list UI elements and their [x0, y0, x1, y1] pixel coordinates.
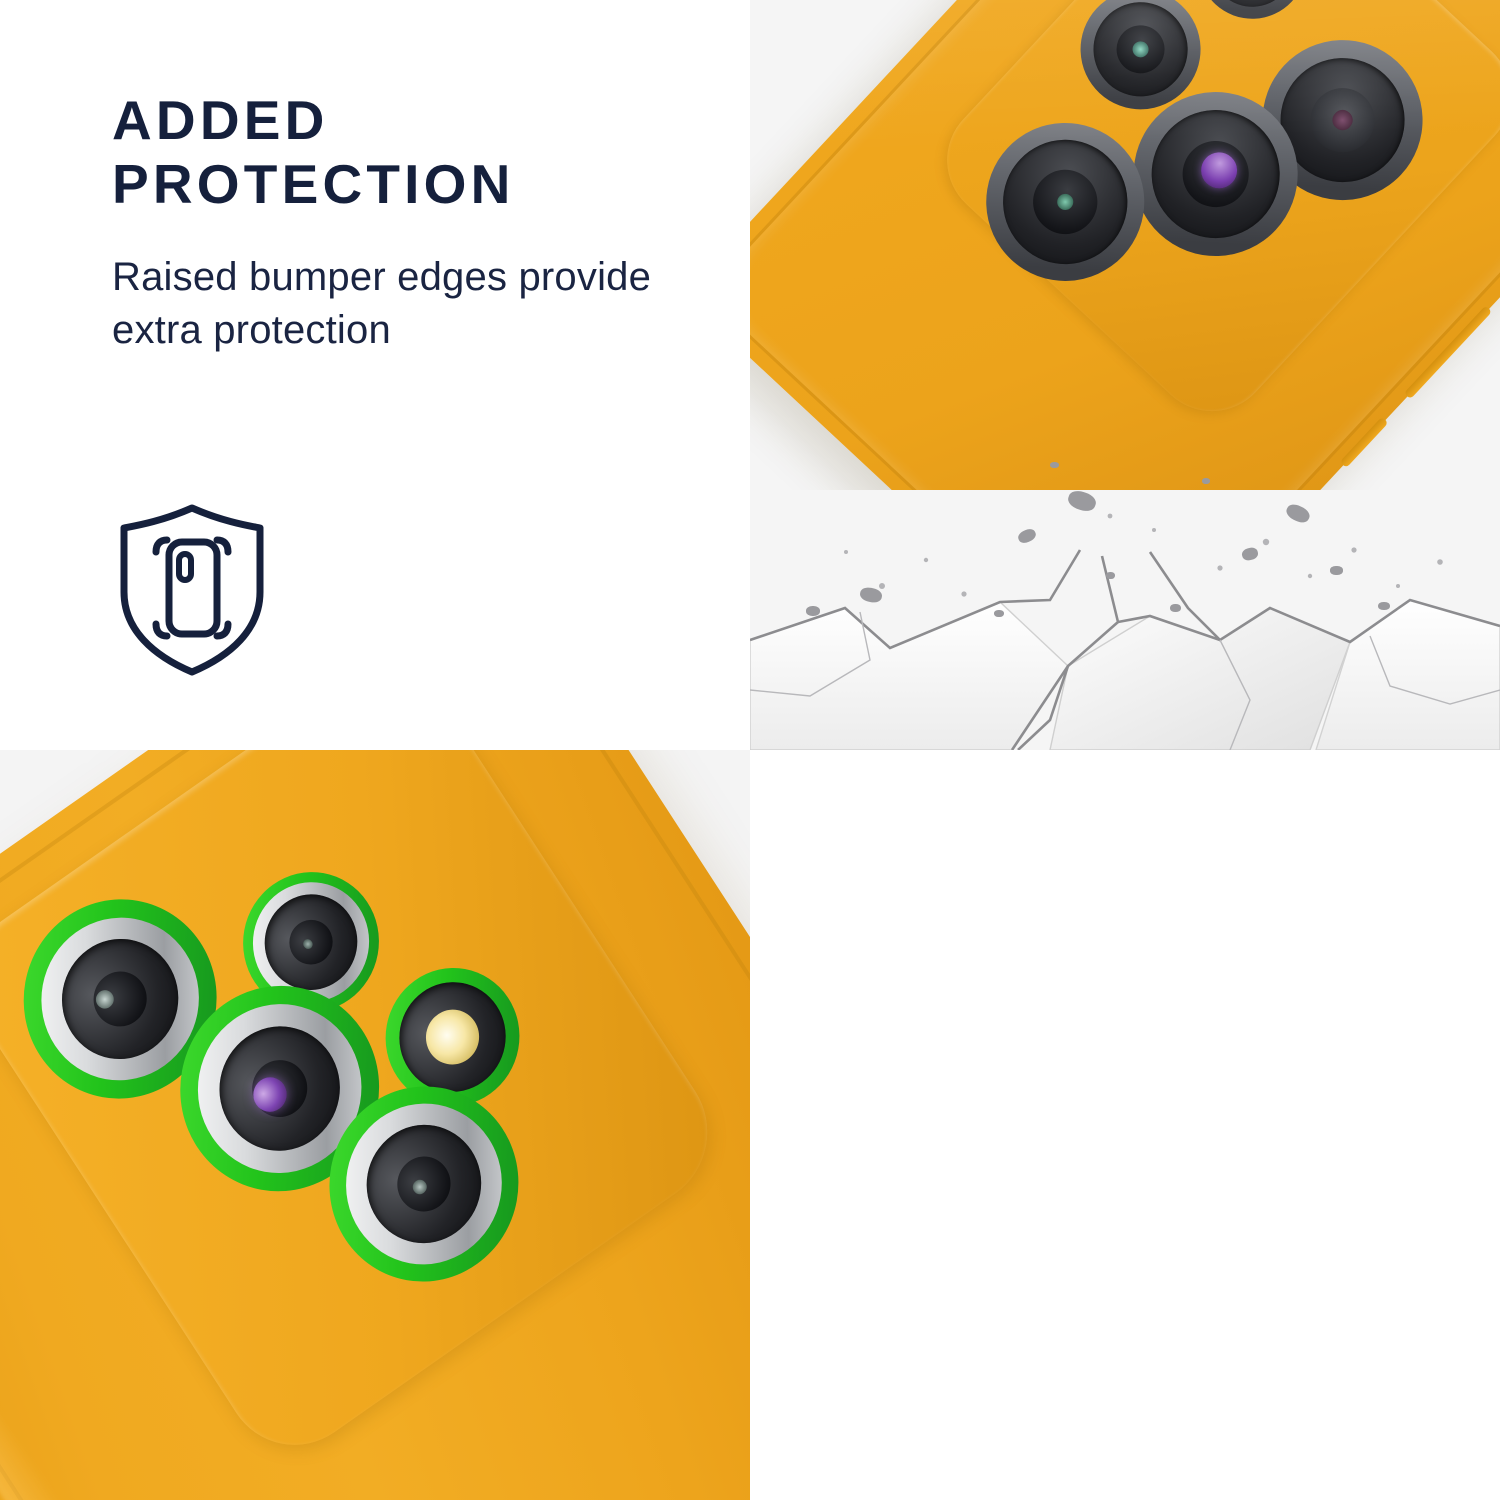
phone-case-angled: [0, 750, 750, 1500]
lens-pupil: [1054, 191, 1076, 213]
panel-added-protection: ADDEDPROTECTION Raised bumper edges prov…: [0, 0, 750, 750]
debris-chunk: [1202, 478, 1210, 484]
camera-module: [922, 0, 1500, 436]
headline-line-1: ADDED: [112, 89, 329, 151]
lens-pupil: [1329, 107, 1356, 134]
added-protection-text-block: ADDEDPROTECTION Raised bumper edges prov…: [112, 88, 692, 357]
camera-flash: [1176, 0, 1329, 41]
headline-line-2: PROTECTION: [112, 153, 515, 215]
debris-chunk: [806, 606, 820, 616]
shield-phone-icon: [112, 500, 272, 680]
added-protection-body: Raised bumper edges provide extra protec…: [112, 217, 692, 357]
lens-pupil: [1194, 145, 1245, 196]
side-button-long: [1404, 305, 1492, 399]
infographic-board: ADDEDPROTECTION Raised bumper edges prov…: [0, 0, 1500, 1500]
panel-protects-camera: PROTECTSCAMERA Raised edges protect came…: [750, 750, 1500, 1500]
debris-chunk: [1330, 566, 1343, 575]
panel-camera-module-photo: [0, 750, 750, 1500]
cracked-surface: [750, 490, 1500, 750]
debris-chunk: [994, 610, 1004, 617]
panel-impact-photo: [750, 0, 1500, 750]
debris-chunk: [1170, 604, 1181, 612]
impact-scene: [750, 0, 1500, 750]
camera-lens-ultra: [954, 90, 1177, 313]
camera-lens-macro: [1056, 0, 1226, 134]
camera-lens-wide: [1229, 7, 1455, 233]
debris-chunk: [1378, 602, 1390, 610]
camera-lens-main: [1100, 58, 1332, 290]
debris-chunk: [1050, 462, 1059, 468]
lens-pupil: [1129, 37, 1153, 61]
camera-module-scene: [0, 750, 750, 1500]
added-protection-headline: ADDEDPROTECTION: [112, 88, 692, 217]
side-button-short: [1340, 417, 1389, 468]
debris-chunk: [1106, 572, 1115, 579]
